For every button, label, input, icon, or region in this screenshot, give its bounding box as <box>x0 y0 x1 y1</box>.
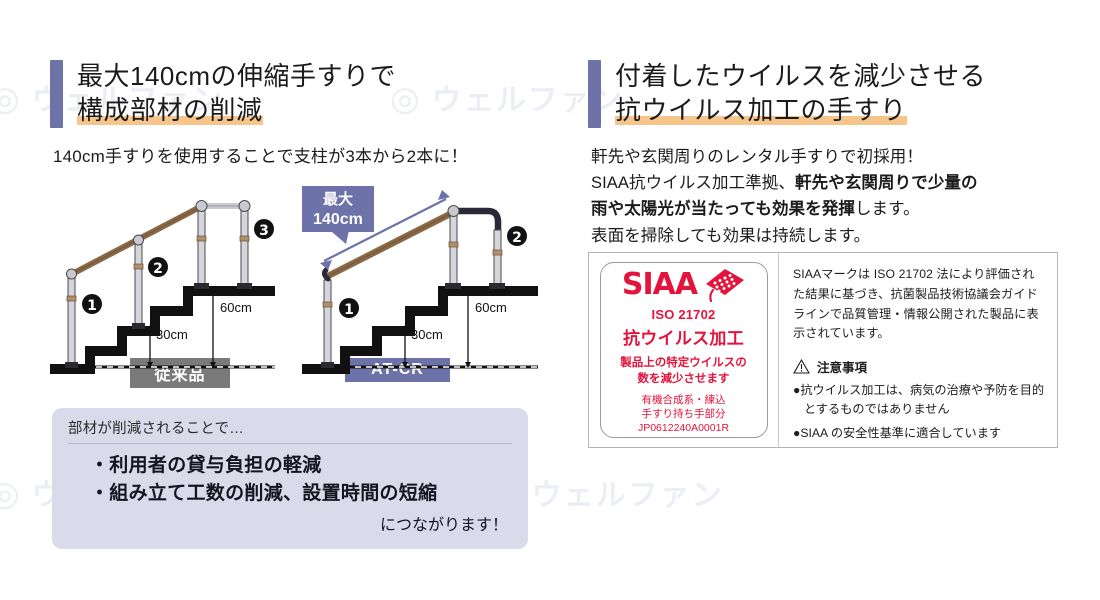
siaa-code-line2: 手すり持ち手部分 <box>638 407 729 421</box>
siaa-logo: SIAA <box>622 271 745 305</box>
heading-accent-bar <box>50 60 63 128</box>
right-copy-line3: 雨や太陽光が当たっても効果を発揮します。 <box>591 196 1058 222</box>
benefit-item: ・利用者の貸与負担の軽減 <box>68 452 512 480</box>
right-copy-line4: 表面を掃除しても効果は持続します。 <box>591 223 1058 249</box>
siaa-caution-item: ●SIAA の安全性基準に適合しています <box>793 424 1045 443</box>
svg-text:30cm: 30cm <box>156 327 188 342</box>
left-heading-line1: 最大140cmの伸縮手すりで <box>77 60 396 94</box>
benefit-item: ・組み立て工数の削減、設置時間の短縮 <box>68 480 512 508</box>
svg-text:1: 1 <box>87 298 97 314</box>
svg-text:1: 1 <box>344 302 354 318</box>
siaa-code-line3: JP0612240A0001R <box>638 421 729 435</box>
right-heading-line1: 付着したウイルスを減少させる <box>615 60 986 94</box>
siaa-code-line1: 有機合成系・練込 <box>638 393 729 407</box>
right-copy-line1: 軒先や玄関周りのレンタル手すりで初採用！ <box>591 144 1058 170</box>
benefit-foot: につながります！ <box>68 511 512 535</box>
right-copy-line2-normal: SIAA抗ウイルス加工準拠、 <box>591 174 795 192</box>
svg-text:2: 2 <box>512 230 522 246</box>
right-heading: 付着したウイルスを減少させる 抗ウイルス加工の手すり <box>588 60 1058 128</box>
diagram-conventional: 1 2 3 30cm 60cm <box>50 184 282 399</box>
benefit-box: 部材が削減されることで… ・利用者の貸与負担の軽減 ・組み立て工数の削減、設置時… <box>52 408 528 549</box>
right-heading-line2: 抗ウイルス加工の手すり <box>615 95 907 125</box>
right-heading-text: 付着したウイルスを減少させる 抗ウイルス加工の手すり <box>615 60 986 128</box>
right-copy-line2: SIAA抗ウイルス加工準拠、軒先や玄関周りで少量の <box>591 170 1058 196</box>
siaa-registration-code: 有機合成系・練込 手すり持ち手部分 JP0612240A0001R <box>638 393 729 436</box>
right-copy-line2-bold: 軒先や玄関周りで少量の <box>795 174 978 192</box>
siaa-iso-number: ISO 21702 <box>652 307 716 322</box>
svg-text:140cm: 140cm <box>313 211 363 228</box>
right-copy: 軒先や玄関周りのレンタル手すりで初採用！ SIAA抗ウイルス加工準拠、軒先や玄関… <box>591 144 1058 250</box>
right-copy-line3-normal: します。 <box>855 200 920 218</box>
left-subcopy: 140cm手すりを使用することで支柱が3本から2本に！ <box>53 144 540 170</box>
siaa-paragraph: SIAAマークは ISO 21702 法により評価された結果に基づき、抗菌製品技… <box>793 265 1045 344</box>
siaa-treatment-label: 抗ウイルス加工 <box>623 324 744 349</box>
svg-text:2: 2 <box>153 261 163 277</box>
siaa-wordmark: SIAA <box>622 271 697 300</box>
siaa-mark-panel: SIAA ISO 21702 <box>589 253 779 447</box>
svg-text:30cm: 30cm <box>411 327 443 342</box>
left-column: 最大140cmの伸縮手すりで 構成部材の削減 140cm手すりを使用することで支… <box>50 60 540 399</box>
warning-triangle-icon <box>793 359 810 374</box>
svg-text:60cm: 60cm <box>475 300 507 315</box>
siaa-caution-header: 注意事項 <box>793 357 1045 376</box>
heading-accent-bar <box>588 60 601 128</box>
left-heading-text: 最大140cmの伸縮手すりで 構成部材の削減 <box>77 60 396 128</box>
svg-text:最大: 最大 <box>323 190 353 208</box>
siaa-caution-title: 注意事項 <box>817 357 867 376</box>
siaa-diamond-icon <box>699 268 745 304</box>
left-heading: 最大140cmの伸縮手すりで 構成部材の削減 <box>50 60 540 128</box>
siaa-certification-box: SIAA ISO 21702 <box>588 252 1058 448</box>
siaa-description: 製品上の特定ウイルスの 数を減少させます <box>620 356 747 387</box>
siaa-explanation-panel: SIAAマークは ISO 21702 法により評価された結果に基づき、抗菌製品技… <box>779 253 1057 447</box>
right-column: 付着したウイルスを減少させる 抗ウイルス加工の手すり 軒先や玄関周りのレンタル手… <box>588 60 1058 249</box>
siaa-mark-frame: SIAA ISO 21702 <box>600 262 768 438</box>
diagram-at-cr: 1 2 30cm 60cm 最大 140cm <box>302 184 542 399</box>
siaa-description-line2: 数を減少させます <box>620 372 747 388</box>
svg-text:3: 3 <box>259 223 269 239</box>
right-copy-line3-bold: 雨や太陽光が当たっても効果を発揮 <box>591 200 855 218</box>
siaa-caution-item: ●抗ウイルス加工は、病気の治療や予防を目的とするものではありません <box>793 381 1045 419</box>
comparison-diagrams: 1 2 3 30cm 60cm <box>50 184 540 399</box>
left-heading-line2: 構成部材の削減 <box>77 95 263 125</box>
brochure-page: ◎ウェルファン ◎ウェルファン ◎ウェルファン ◎ウェルファン 最大140cmの… <box>0 0 1100 600</box>
siaa-description-line1: 製品上の特定ウイルスの <box>620 356 747 372</box>
benefit-head: 部材が削減されることで… <box>68 417 512 444</box>
svg-text:60cm: 60cm <box>220 300 252 315</box>
